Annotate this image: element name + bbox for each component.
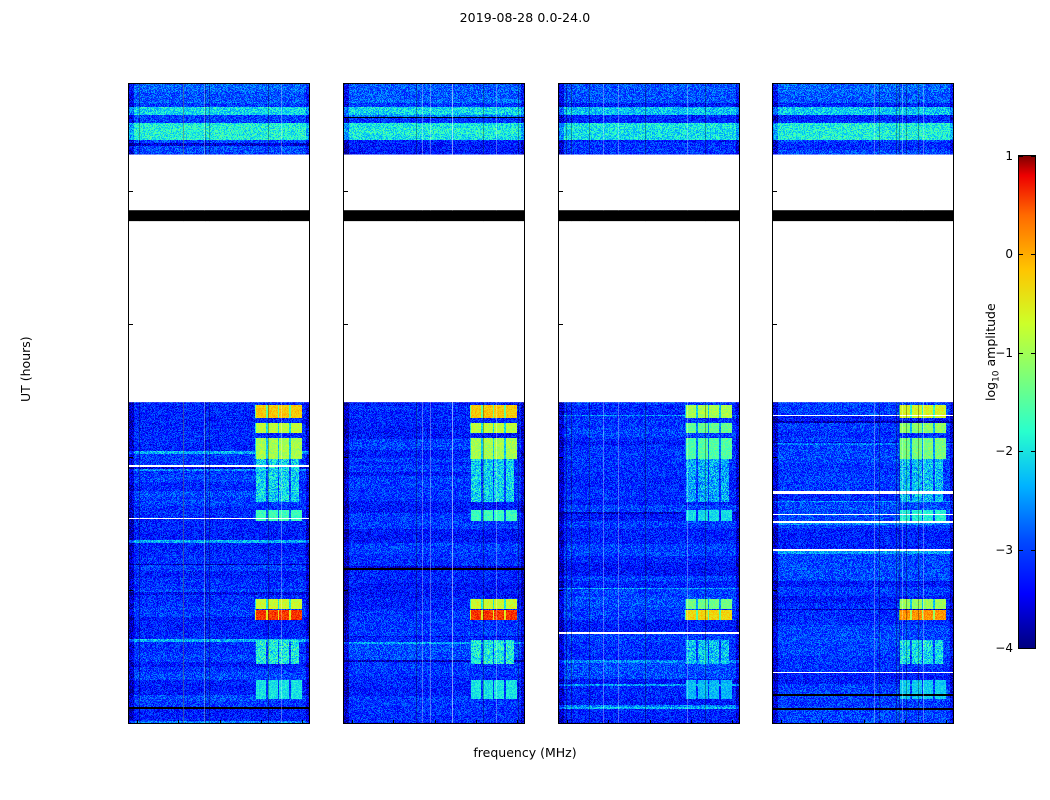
y-tick-mark-inner bbox=[773, 590, 777, 591]
x-tick-mark bbox=[946, 723, 947, 724]
y-tick-mark-inner bbox=[559, 324, 563, 325]
x-tick-mark bbox=[650, 723, 651, 724]
x-tick-mark-inner bbox=[517, 720, 518, 724]
y-tick-mark-inner bbox=[559, 590, 563, 591]
x-tick-mark-inner bbox=[352, 720, 353, 724]
colorbar-tick-label: −3 bbox=[995, 543, 1013, 557]
colorbar-tick-mark bbox=[1019, 648, 1023, 649]
colorbar-tick-mark bbox=[1019, 254, 1023, 255]
y-tick-mark bbox=[558, 723, 559, 724]
spectrogram-xy bbox=[559, 84, 739, 723]
colorbar-tick-mark-right bbox=[1031, 451, 1035, 452]
colorbar-label-prefix: log bbox=[983, 382, 998, 401]
x-tick-mark-inner bbox=[476, 720, 477, 724]
x-tick-mark-inner bbox=[608, 720, 609, 724]
y-tick-mark-inner bbox=[773, 723, 777, 724]
y-tick-mark-inner bbox=[559, 457, 563, 458]
panel-xx: XX, V6*V11=EA08*EA14 0510152032033535036… bbox=[128, 83, 310, 724]
x-tick-mark bbox=[567, 723, 568, 724]
x-tick-mark-inner bbox=[732, 720, 733, 724]
colorbar-tick-label: −2 bbox=[995, 444, 1013, 458]
x-tick-mark-inner bbox=[691, 720, 692, 724]
colorbar-tick-label: 1 bbox=[1005, 149, 1013, 163]
panel-yx: YX, V6*V11=EA08*EA14 0510152032033535036… bbox=[772, 83, 954, 724]
x-tick-mark bbox=[608, 723, 609, 724]
colorbar-tick-label: −4 bbox=[995, 641, 1013, 655]
x-tick-mark-inner bbox=[864, 720, 865, 724]
panel-xy: XY, V6*V11=EA08*EA14 0510152032033535036… bbox=[558, 83, 740, 724]
panel-yy: YY, V6*V11=EA08*EA14 0510152032033535036… bbox=[343, 83, 525, 724]
y-axis-label: UT (hours) bbox=[18, 336, 33, 402]
colorbar-label-subscript: 10 bbox=[992, 370, 1002, 381]
spectrogram-yy bbox=[344, 84, 524, 723]
y-tick-mark-inner bbox=[773, 191, 777, 192]
y-tick-mark-inner bbox=[344, 723, 348, 724]
x-tick-mark bbox=[393, 723, 394, 724]
colorbar-tick-mark-right bbox=[1031, 254, 1035, 255]
y-tick-mark-inner bbox=[129, 457, 133, 458]
y-tick-mark-inner bbox=[129, 723, 133, 724]
x-tick-mark-inner bbox=[822, 720, 823, 724]
x-tick-mark bbox=[261, 723, 262, 724]
x-tick-mark-inner bbox=[220, 720, 221, 724]
x-tick-mark bbox=[781, 723, 782, 724]
x-tick-mark bbox=[476, 723, 477, 724]
y-tick-mark-inner bbox=[129, 191, 133, 192]
x-axis-label: frequency (MHz) bbox=[0, 745, 1050, 760]
colorbar-label: log10 amplitude bbox=[983, 303, 1002, 401]
colorbar-tick-mark bbox=[1019, 353, 1023, 354]
colorbar-tick-mark-right bbox=[1031, 156, 1035, 157]
y-tick-mark bbox=[772, 723, 773, 724]
x-tick-mark-inner bbox=[781, 720, 782, 724]
x-tick-mark bbox=[302, 723, 303, 724]
colorbar-tick-mark bbox=[1019, 156, 1023, 157]
x-tick-mark bbox=[517, 723, 518, 724]
colorbar-tick-mark bbox=[1019, 451, 1023, 452]
colorbar: −4−3−2−101 bbox=[1018, 155, 1036, 649]
x-tick-mark bbox=[435, 723, 436, 724]
colorbar-tick-mark-right bbox=[1031, 353, 1035, 354]
y-tick-mark-inner bbox=[344, 590, 348, 591]
y-tick-mark-inner bbox=[559, 723, 563, 724]
y-tick-mark-inner bbox=[344, 191, 348, 192]
y-tick-mark bbox=[128, 723, 129, 724]
x-tick-mark bbox=[691, 723, 692, 724]
y-tick-mark-inner bbox=[129, 324, 133, 325]
x-tick-mark-inner bbox=[650, 720, 651, 724]
y-tick-mark-inner bbox=[559, 191, 563, 192]
x-tick-mark bbox=[905, 723, 906, 724]
x-tick-mark bbox=[178, 723, 179, 724]
x-tick-mark bbox=[352, 723, 353, 724]
colorbar-tick-label: 0 bbox=[1005, 247, 1013, 261]
y-tick-mark-inner bbox=[129, 590, 133, 591]
x-tick-mark bbox=[137, 723, 138, 724]
colorbar-label-suffix: amplitude bbox=[983, 303, 998, 370]
x-tick-mark-inner bbox=[946, 720, 947, 724]
spectrogram-xx bbox=[129, 84, 309, 723]
y-tick-mark-inner bbox=[773, 457, 777, 458]
x-tick-mark-inner bbox=[435, 720, 436, 724]
x-tick-mark-inner bbox=[178, 720, 179, 724]
figure-suptitle: 2019-08-28 0.0-24.0 bbox=[0, 10, 1050, 25]
x-tick-mark bbox=[220, 723, 221, 724]
spectrogram-yx bbox=[773, 84, 953, 723]
x-tick-mark bbox=[732, 723, 733, 724]
x-tick-mark-inner bbox=[137, 720, 138, 724]
y-tick-mark bbox=[343, 723, 344, 724]
x-tick-mark bbox=[822, 723, 823, 724]
x-tick-mark bbox=[864, 723, 865, 724]
x-tick-mark-inner bbox=[302, 720, 303, 724]
x-tick-mark-inner bbox=[905, 720, 906, 724]
x-tick-mark-inner bbox=[393, 720, 394, 724]
colorbar-tick-mark-right bbox=[1031, 550, 1035, 551]
colorbar-tick-mark-right bbox=[1031, 648, 1035, 649]
figure-canvas: 2019-08-28 0.0-24.0 XX, V6*V11=EA08*EA14… bbox=[0, 0, 1050, 800]
x-tick-mark-inner bbox=[567, 720, 568, 724]
colorbar-tick-mark bbox=[1019, 550, 1023, 551]
x-tick-mark-inner bbox=[261, 720, 262, 724]
y-tick-mark-inner bbox=[344, 457, 348, 458]
y-tick-mark-inner bbox=[344, 324, 348, 325]
y-tick-mark-inner bbox=[773, 324, 777, 325]
